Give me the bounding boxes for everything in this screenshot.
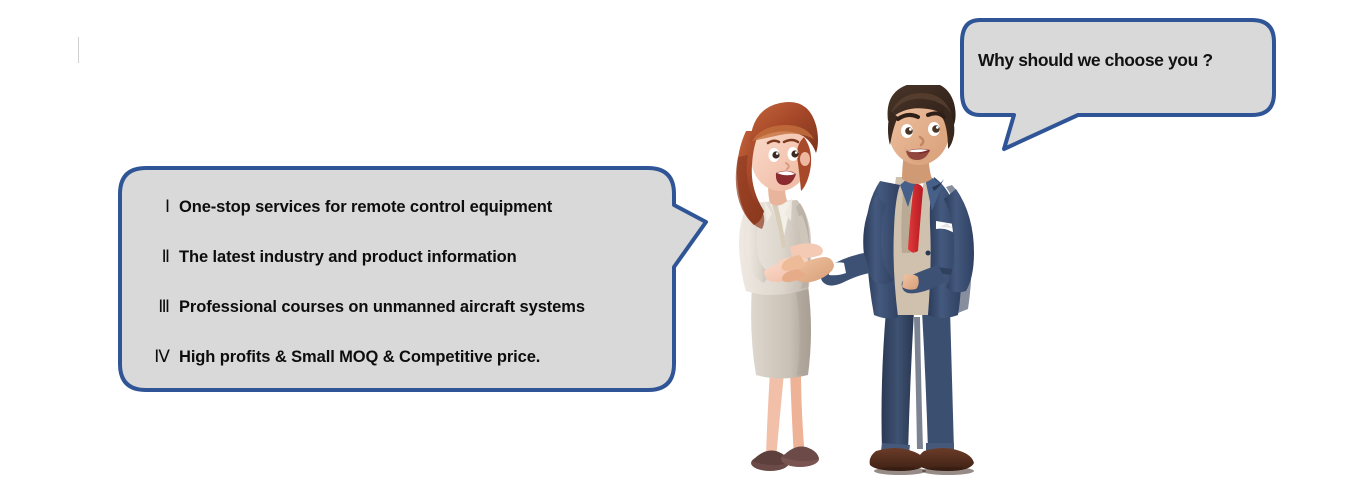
bullet-numeral: Ⅱ bbox=[140, 246, 179, 268]
text-caret-artifact bbox=[78, 37, 79, 63]
bullet-numeral: Ⅰ bbox=[140, 196, 179, 218]
slide-canvas: Ⅰ One-stop services for remote control e… bbox=[0, 0, 1354, 499]
answer-bullet-list: Ⅰ One-stop services for remote control e… bbox=[140, 196, 640, 396]
bullet-numeral: Ⅲ bbox=[140, 296, 179, 318]
list-item: Ⅲ Professional courses on unmanned aircr… bbox=[140, 296, 640, 346]
two-business-people-illustration bbox=[700, 85, 1030, 499]
list-item: Ⅱ The latest industry and product inform… bbox=[140, 246, 640, 296]
bullet-label: Professional courses on unmanned aircraf… bbox=[179, 296, 585, 318]
question-text: Why should we choose you ? bbox=[978, 50, 1258, 71]
list-item: Ⅰ One-stop services for remote control e… bbox=[140, 196, 640, 246]
bullet-label: One-stop services for remote control equ… bbox=[179, 196, 552, 218]
bullet-numeral: Ⅳ bbox=[140, 346, 179, 368]
businesswoman-character bbox=[736, 102, 823, 471]
businessman-character bbox=[782, 85, 974, 475]
bullet-label: High profits & Small MOQ & Competitive p… bbox=[179, 346, 540, 368]
bullet-label: The latest industry and product informat… bbox=[179, 246, 517, 268]
list-item: Ⅳ High profits & Small MOQ & Competitive… bbox=[140, 346, 640, 396]
